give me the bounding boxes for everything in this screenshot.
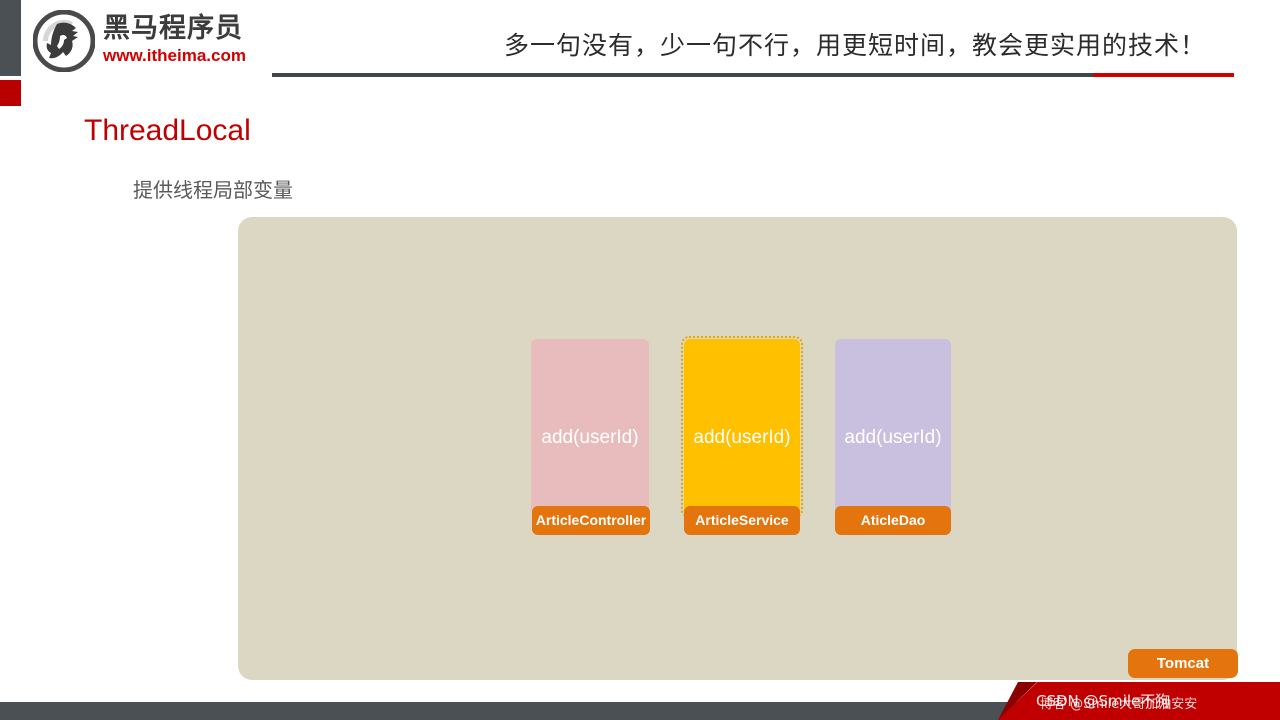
page-subtitle: 提供线程局部变量 bbox=[133, 174, 293, 203]
header-slogan: 多一句没有，少一句不行，用更短时间，教会更实用的技术！ bbox=[470, 26, 1240, 62]
csdn-watermark: 博客 @Smile大哥加油安安 CSDN @Smile不狗 bbox=[998, 682, 1280, 720]
page-title: ThreadLocal bbox=[84, 114, 251, 148]
header-rule-gray bbox=[272, 73, 1093, 77]
layer-call-label-controller: add(userId) bbox=[531, 427, 649, 449]
header-rule-red bbox=[1093, 73, 1234, 77]
brand-website: www.itheima.com bbox=[103, 45, 246, 67]
watermark-text-group: 博客 @Smile大哥加油安安 CSDN @Smile不狗 bbox=[1036, 690, 1280, 712]
horse-head-logo-icon bbox=[33, 10, 95, 72]
diagram-panel: add(userId) ArticleController add(userId… bbox=[238, 217, 1237, 680]
layer-box-controller[interactable]: add(userId) ArticleController bbox=[531, 339, 649, 515]
layer-box-service[interactable]: add(userId) ArticleService bbox=[684, 339, 800, 515]
brand-text: 黑马程序员 www.itheima.com bbox=[103, 13, 246, 67]
tomcat-badge: Tomcat bbox=[1128, 649, 1238, 678]
layer-tag-service: ArticleService bbox=[684, 506, 800, 535]
layer-call-label-service: add(userId) bbox=[684, 427, 800, 449]
left-edge-gray-bar bbox=[0, 0, 21, 76]
brand-logo: 黑马程序员 www.itheima.com bbox=[33, 10, 293, 72]
layer-call-label-dao: add(userId) bbox=[835, 427, 951, 449]
layer-box-dao[interactable]: add(userId) AticleDao bbox=[835, 339, 951, 515]
layer-tag-dao: AticleDao bbox=[835, 506, 951, 535]
layer-tag-controller: ArticleController bbox=[532, 506, 650, 535]
left-edge-red-bar bbox=[0, 80, 21, 106]
brand-name-cn: 黑马程序员 bbox=[103, 13, 246, 45]
watermark-text-front: CSDN @Smile不狗 bbox=[1036, 690, 1280, 711]
